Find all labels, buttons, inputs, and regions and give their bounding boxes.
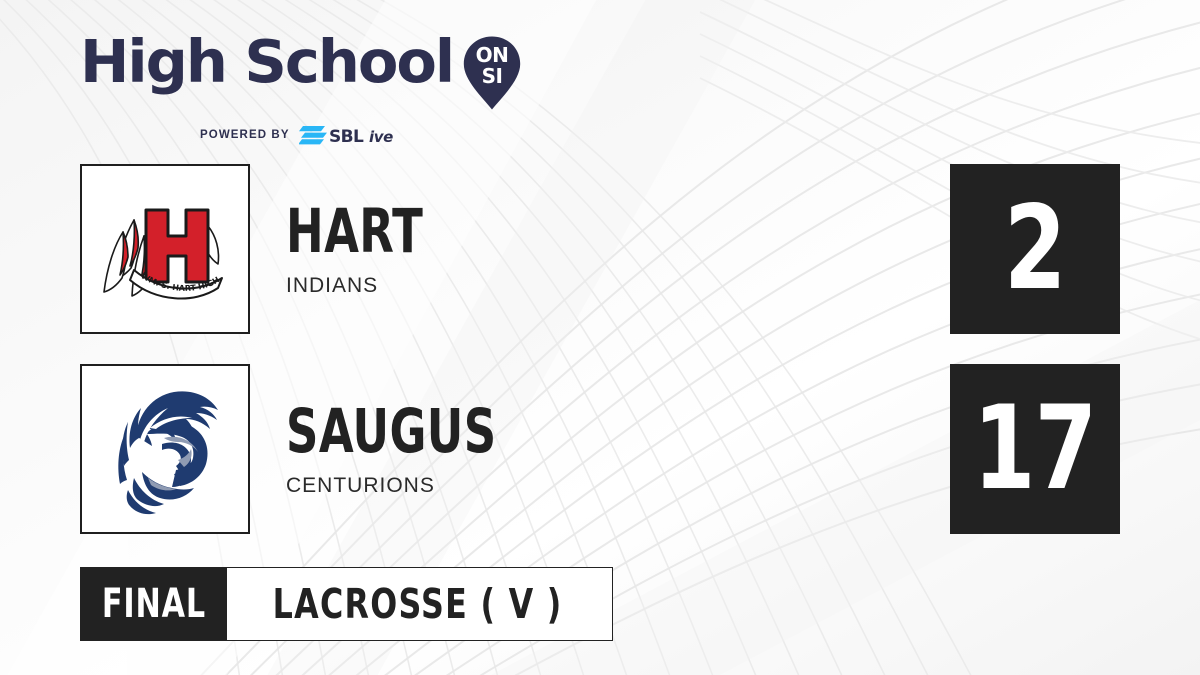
sblive-logo-icon: SBL ive [299,124,403,146]
team-logo-box: WM. S. HART HIGH [80,164,250,334]
powered-by-row: POWERED BY SBL ive [200,124,522,146]
team-logo-box [80,364,250,534]
team-text-block: HART INDIANS [286,164,453,334]
status-state-label: FINAL [101,581,205,627]
team-name: HART [286,201,423,262]
team-score-box: 2 [950,164,1120,334]
svg-text:ive: ive [369,128,393,146]
game-status-bar: FINAL LACROSSE ( V ) [80,567,613,641]
onsi-pin-icon: ON SI [462,35,522,116]
team-score: 2 [1004,191,1066,307]
team-mascot: CENTURIONS [286,474,543,498]
status-badge: FINAL [80,567,227,641]
brand-header: High School ON SI POWERED BY SBL [80,34,522,146]
hart-indians-logo-icon: WM. S. HART HIGH [90,174,240,324]
sport-label: LACROSSE ( V ) [273,580,563,628]
team-score-box: 17 [950,364,1120,534]
page-title: High School [80,34,453,90]
team-name: SAUGUS [286,401,497,462]
team-mascot: INDIANS [286,274,453,298]
team-text-block: SAUGUS CENTURIONS [286,364,543,534]
svg-text:SI: SI [482,64,503,88]
svg-text:SBL: SBL [329,127,364,146]
team-row: WM. S. HART HIGH HART INDIANS 2 [0,164,1200,334]
powered-by-label: POWERED BY [200,129,290,141]
team-score: 17 [973,391,1096,507]
saugus-centurions-logo-icon [90,374,240,524]
sport-label-box: LACROSSE ( V ) [227,567,613,641]
team-row: SAUGUS CENTURIONS 17 [0,364,1200,534]
